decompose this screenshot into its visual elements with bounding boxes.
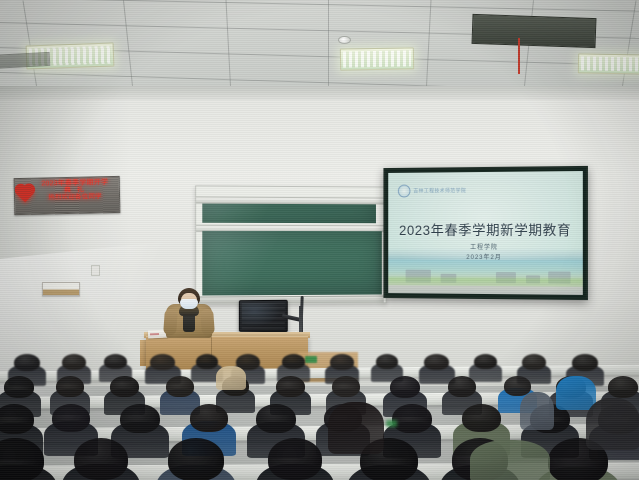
audience-person	[168, 438, 224, 480]
presentation-slide: 吉林工程技术师范学院 2023年春季学期新学期教育 工程学院 2023年2月	[388, 171, 583, 295]
presenter-arm-right	[200, 309, 215, 336]
person-head	[120, 404, 160, 433]
person-head	[282, 354, 305, 369]
green-coat	[470, 440, 550, 480]
person-head	[424, 354, 449, 370]
person-head	[110, 376, 139, 397]
slide-campus-photo	[388, 260, 583, 295]
green-chalkboard	[195, 185, 387, 304]
person-head	[390, 376, 420, 398]
audience-person	[424, 354, 449, 385]
person-head	[52, 404, 90, 432]
led-scrolling-sign: 2023年春季学期开学 典 礼 热烈欢迎各位同学	[14, 176, 121, 215]
person-head	[0, 404, 34, 434]
audience-person	[268, 438, 322, 480]
ceiling-red-cord	[518, 38, 520, 74]
ceiling-light-panel	[578, 53, 639, 74]
seated-students	[0, 352, 639, 480]
audience-person	[74, 438, 128, 480]
university-logo: 吉林工程技术师范学院	[398, 184, 466, 197]
person-head	[4, 376, 34, 398]
led-line-3: 热烈欢迎各位同学	[33, 194, 117, 203]
heart-icon	[16, 185, 33, 202]
beige-jacket-front	[216, 366, 246, 390]
ponytail-woman	[328, 402, 384, 454]
person-head	[448, 376, 476, 397]
slide-title: 2023年春季学期新学期教育	[388, 219, 583, 239]
person-head	[196, 354, 218, 369]
person-head	[268, 438, 322, 480]
person-head	[190, 404, 228, 432]
person-head	[74, 438, 128, 480]
person-head	[330, 354, 354, 370]
smoke-detector	[338, 36, 351, 44]
presenter-arm-left	[163, 309, 178, 336]
person-head	[392, 404, 432, 433]
camo-jacket	[520, 392, 554, 430]
person-head	[0, 438, 44, 480]
audience-person	[196, 354, 218, 384]
face-mask-icon	[180, 299, 198, 309]
person-head	[608, 376, 638, 398]
person-head	[166, 376, 194, 397]
suspended-ceiling	[0, 0, 639, 96]
person-head	[376, 354, 398, 369]
person-head	[150, 354, 175, 370]
lecture-hall-photo: 2023年春季学期开学 典 礼 热烈欢迎各位同学 吉林工程技术师范学院 2023…	[0, 0, 639, 480]
person-head	[62, 354, 86, 370]
logo-wordmark: 吉林工程技术师范学院	[413, 187, 466, 194]
wall-outlet	[91, 265, 100, 276]
ceiling-light-panel	[340, 47, 414, 70]
podium-monitor	[239, 300, 288, 332]
person-head	[572, 354, 598, 371]
person-head	[104, 354, 127, 369]
presenter-at-podium	[166, 288, 212, 338]
slide-subtitle-department: 工程学院	[388, 242, 583, 251]
person-head	[56, 376, 84, 397]
person-head	[256, 404, 296, 433]
projection-screen: 吉林工程技术师范学院 2023年春季学期新学期教育 工程学院 2023年2月	[383, 166, 588, 300]
person-head	[332, 376, 360, 397]
person-head	[462, 404, 501, 432]
person-head	[168, 438, 224, 480]
blue-puffer-jacket	[556, 376, 596, 410]
audience-person	[474, 354, 497, 384]
ceiling-air-vent	[472, 14, 597, 48]
exit-sign	[386, 420, 397, 427]
person-head	[276, 376, 305, 397]
fur-hood	[586, 398, 639, 450]
person-head	[14, 354, 40, 371]
wall-plaque	[42, 282, 80, 296]
logo-emblem-icon	[398, 185, 411, 198]
chalk-tray	[198, 295, 384, 303]
chalkboard-rail	[196, 196, 386, 204]
person-head	[474, 354, 497, 369]
audience-person	[0, 438, 44, 480]
person-head	[522, 354, 546, 370]
chalkboard-main-panel	[202, 231, 382, 296]
